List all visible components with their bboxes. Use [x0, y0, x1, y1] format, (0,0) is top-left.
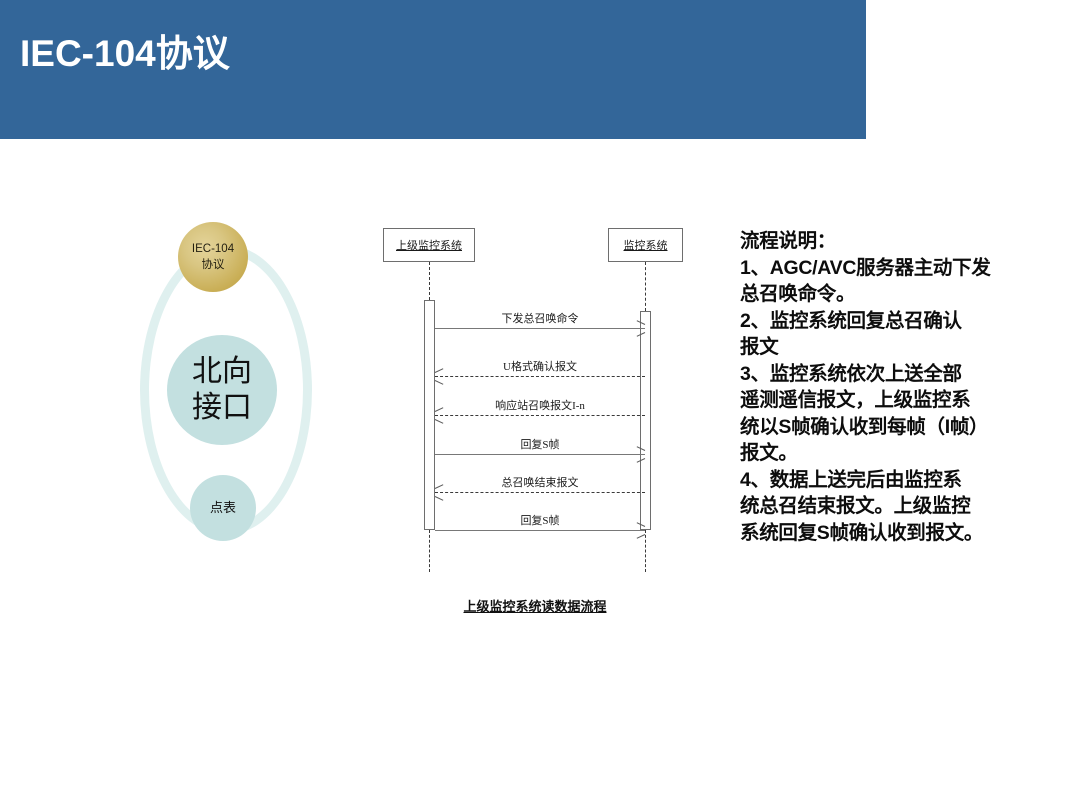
page-title: IEC-104协议	[20, 30, 230, 78]
sequence-message-label: 下发总召唤命令	[435, 310, 645, 326]
description-panel: 流程说明： 1、AGC/AVC服务器主动下发 总召唤命令。 2、监控系统回复总召…	[740, 228, 1012, 546]
concept-node-protocol-line2: 协议	[202, 257, 225, 273]
lifeline-left-bottom	[429, 530, 430, 572]
sequence-message-line	[435, 530, 645, 531]
sequence-message-line	[435, 492, 645, 493]
header-banner: IEC-104协议	[0, 0, 866, 139]
activation-bar-right	[640, 311, 651, 530]
sequence-message-label: 总召唤结束报文	[435, 474, 645, 490]
description-line: 4、数据上送完后由监控系	[740, 467, 1012, 494]
sequence-message: 响应站召唤报文I-n	[435, 415, 645, 416]
description-line: 3、监控系统依次上送全部	[740, 361, 1012, 388]
description-line: 总召唤命令。	[740, 281, 1012, 308]
sequence-message-line	[435, 415, 645, 416]
activation-bar-left	[424, 300, 435, 530]
sequence-message-line	[435, 376, 645, 377]
concept-node-points: 点表	[190, 475, 256, 541]
sequence-message-label: 回复S帧	[435, 436, 645, 452]
sequence-message: 回复S帧	[435, 530, 645, 531]
lifeline-right-bottom	[645, 530, 646, 572]
concept-node-interface-line2: 接口	[192, 390, 252, 426]
sequence-message: 总召唤结束报文	[435, 492, 645, 493]
concept-node-points-label: 点表	[210, 499, 236, 517]
sequence-message-label: 回复S帧	[435, 512, 645, 528]
arrow-head-icon	[637, 534, 646, 539]
sequence-diagram: 上级监控系统 监控系统 下发总召唤命令 U格式确认报文 响应站召唤报文I-n 回…	[380, 228, 700, 618]
concept-node-interface-line1: 北向	[192, 354, 252, 390]
sequence-message-label: 响应站召唤报文I-n	[435, 397, 645, 413]
concept-node-protocol-line1: IEC-104	[192, 241, 234, 257]
concept-node-interface: 北向 接口	[167, 335, 277, 445]
lifeline-left-top	[429, 262, 430, 300]
sequence-actor-right-label: 监控系统	[624, 237, 668, 253]
arrow-head-icon	[435, 419, 444, 424]
sequence-diagram-caption: 上级监控系统读数据流程	[380, 596, 690, 615]
description-line: 2、监控系统回复总召确认	[740, 308, 1012, 335]
description-line: 系统回复S帧确认收到报文。	[740, 520, 1012, 547]
description-line: 报文。	[740, 440, 1012, 467]
description-line: 1、AGC/AVC服务器主动下发	[740, 255, 1012, 282]
sequence-message: U格式确认报文	[435, 376, 645, 377]
sequence-actor-left: 上级监控系统	[383, 228, 475, 262]
arrow-head-icon	[435, 380, 444, 385]
sequence-message-line	[435, 328, 645, 329]
description-line: 流程说明：	[740, 228, 1012, 255]
description-line: 报文	[740, 334, 1012, 361]
sequence-actor-left-label: 上级监控系统	[396, 237, 462, 253]
concept-node-protocol: IEC-104 协议	[178, 222, 248, 292]
arrow-head-icon	[435, 496, 444, 501]
description-line: 统以S帧确认收到每帧（I帧）	[740, 414, 1012, 441]
description-line: 遥测遥信报文，上级监控系	[740, 387, 1012, 414]
sequence-message: 回复S帧	[435, 454, 645, 455]
description-line: 统总召结束报文。上级监控	[740, 493, 1012, 520]
concept-circle-diagram: IEC-104 协议 北向 接口 点表	[120, 205, 330, 575]
sequence-actor-right: 监控系统	[608, 228, 683, 262]
sequence-message-label: U格式确认报文	[435, 358, 645, 374]
sequence-message-line	[435, 454, 645, 455]
sequence-message: 下发总召唤命令	[435, 328, 645, 329]
lifeline-right-top	[645, 262, 646, 311]
